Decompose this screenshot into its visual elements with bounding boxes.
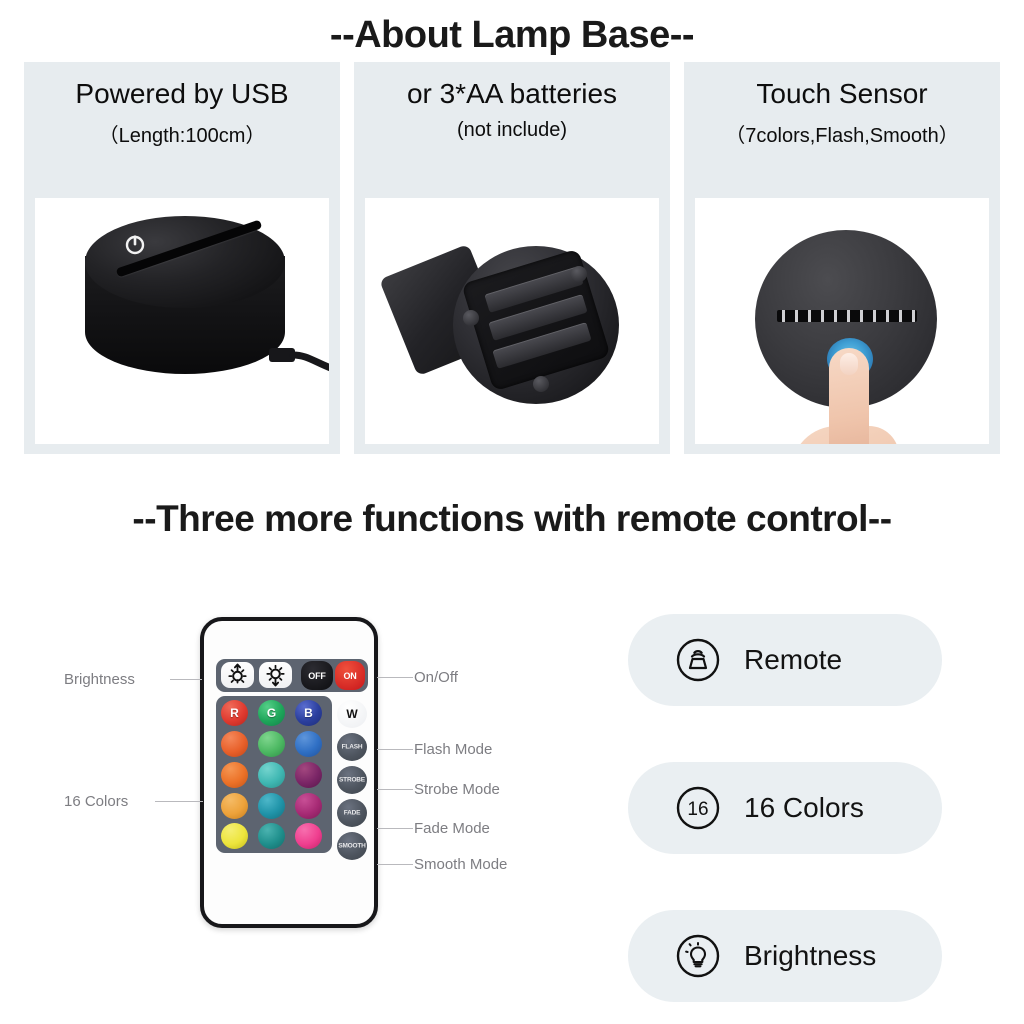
feature-pill-label: Remote [744,644,842,676]
power-icon [123,232,147,256]
photo-battery-compartment [365,198,659,444]
feature-pill-label: 16 Colors [744,792,864,824]
leader-line-16-colors [155,801,203,802]
leader-line-on-off [377,677,413,678]
leader-line-strobe [377,789,413,790]
color-button[interactable] [221,762,248,788]
flash-mode-button[interactable]: FLASH [337,733,367,761]
feature-pill-16-colors[interactable]: 16 16 Colors [628,762,942,854]
feature-pill-remote[interactable]: Remote [628,614,942,706]
color-button[interactable] [258,762,285,788]
battery-compartment-illustration [365,198,659,444]
lightbulb-icon [674,932,722,980]
color-button-label: G [258,706,285,720]
callout-flash-mode: Flash Mode [414,741,492,758]
color-button[interactable] [258,823,285,849]
color-button-r[interactable]: R [221,700,248,726]
leader-line-fade [377,828,413,829]
color-button[interactable] [295,731,322,757]
color-button[interactable] [221,731,248,757]
panel-title: Touch Sensor [756,76,927,111]
usb-cable-icon [267,338,329,384]
callout-brightness: Brightness [64,671,135,688]
color-button-label: R [221,706,248,720]
callout-on-off: On/Off [414,669,458,686]
off-button[interactable]: OFF [301,661,333,690]
callout-16-colors: 16 Colors [64,793,128,810]
panel-title: or 3*AA batteries [407,76,617,111]
strobe-mode-button[interactable]: STROBE [337,766,367,794]
color-button-g[interactable]: G [258,700,285,726]
on-button-label: ON [335,671,365,681]
panel-subtitle: (not include) [457,119,567,142]
brightness-down-button[interactable] [259,662,292,688]
sun-down-icon [259,662,292,688]
color-button-b[interactable]: B [295,700,322,726]
leader-line-smooth [377,864,413,865]
callout-fade-mode: Fade Mode [414,820,490,837]
page-title-about-lamp-base: --About Lamp Base-- [0,14,1024,57]
fade-button-label: FADE [337,810,367,817]
infographic-page: --About Lamp Base-- Powered by USB （Leng… [0,0,1024,1024]
smooth-mode-button[interactable]: SMOOTH [337,832,367,860]
leader-line-brightness [170,679,202,680]
sixteen-circle-icon: 16 [674,784,722,832]
remote-color-keypad: R G B [216,696,332,853]
remote-signal-icon [674,636,722,684]
flash-button-label: FLASH [337,744,367,751]
remote-control[interactable]: OFF ON R G B [200,617,378,928]
brightness-up-button[interactable] [221,662,254,688]
lamp-base-illustration [35,198,329,444]
lamp-base-panels: Powered by USB （Length:100cm） [24,62,1000,454]
panel-touch-sensor: Touch Sensor （7colors,Flash,Smooth） [684,62,1000,454]
color-button[interactable] [258,731,285,757]
fingernail [840,353,858,375]
panel-aa-batteries: or 3*AA batteries (not include) [354,62,670,454]
color-button[interactable] [221,793,248,819]
callout-smooth-mode: Smooth Mode [414,856,507,873]
off-button-label: OFF [301,671,333,681]
color-button[interactable] [295,762,322,788]
color-button[interactable] [221,823,248,849]
screw-hole [533,376,549,392]
panel-subtitle: （Length:100cm） [99,119,266,148]
strobe-button-label: STROBE [337,777,367,784]
feature-pill-brightness[interactable]: Brightness [628,910,942,1002]
smooth-button-label: SMOOTH [337,843,367,850]
led-strip [777,310,917,322]
white-button-label: W [337,707,367,721]
leader-line-flash [377,749,413,750]
color-button-label: B [295,706,322,720]
photo-lamp-base-usb [35,198,329,444]
screw-hole [571,266,587,282]
screw-hole [463,310,479,326]
panel-title: Powered by USB [75,76,288,111]
color-button-white[interactable]: W [337,700,367,728]
callout-strobe-mode: Strobe Mode [414,781,500,798]
color-button[interactable] [258,793,285,819]
color-button[interactable] [295,823,322,849]
remote-top-keypad: OFF ON [216,659,368,692]
photo-touch-sensor [695,198,989,444]
panel-subtitle: （7colors,Flash,Smooth） [725,119,958,148]
page-title-remote-functions: --Three more functions with remote contr… [0,498,1024,540]
svg-text:16: 16 [687,799,708,820]
panel-powered-by-usb: Powered by USB （Length:100cm） [24,62,340,454]
feature-pill-label: Brightness [744,940,876,972]
sun-up-icon [221,662,254,688]
touch-sensor-illustration [695,198,989,444]
color-button[interactable] [295,793,322,819]
fade-mode-button[interactable]: FADE [337,799,367,827]
on-button[interactable]: ON [335,661,365,690]
